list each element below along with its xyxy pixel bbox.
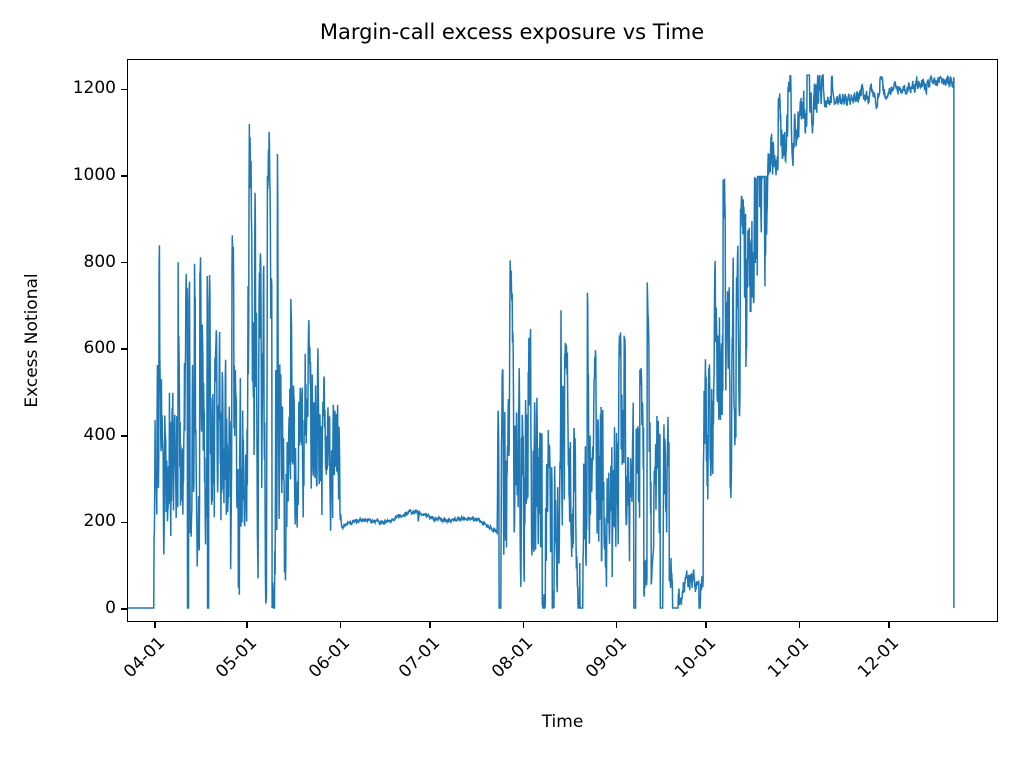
x-tick-mark — [888, 622, 890, 628]
y-tick-label: 200 — [84, 511, 116, 531]
x-tick-mark — [154, 622, 156, 628]
y-tick-label: 600 — [84, 338, 116, 358]
x-tick-mark — [429, 622, 431, 628]
x-tick-label: 07-01 — [386, 633, 444, 691]
y-axis-label: Excess Notional — [22, 59, 42, 622]
x-tick-label: 04-01 — [111, 633, 169, 691]
x-tick-label: 12-01 — [845, 633, 903, 691]
y-tick-label: 0 — [105, 598, 116, 618]
line-series-excess-notional — [128, 75, 954, 608]
x-tick-mark — [799, 622, 801, 628]
x-tick-label: 09-01 — [573, 633, 631, 691]
x-tick-mark — [523, 622, 525, 628]
plot-area — [127, 59, 998, 622]
y-tick-label: 1000 — [73, 165, 116, 185]
line-series-svg — [128, 60, 997, 621]
y-tick-label: 800 — [84, 252, 116, 272]
x-tick-mark — [705, 622, 707, 628]
x-tick-label: 10-01 — [662, 633, 720, 691]
x-tick-label: 05-01 — [203, 633, 261, 691]
x-tick-mark — [246, 622, 248, 628]
y-tick-label: 1200 — [73, 78, 116, 98]
x-tick-label: 08-01 — [479, 633, 537, 691]
x-tick-mark — [616, 622, 618, 628]
x-axis-label: Time — [127, 712, 998, 732]
chart-figure: Margin-call excess exposure vs Time Exce… — [0, 0, 1024, 768]
x-tick-mark — [340, 622, 342, 628]
page-title: Margin-call excess exposure vs Time — [0, 20, 1024, 44]
y-tick-label: 400 — [84, 425, 116, 445]
x-tick-label: 11-01 — [756, 633, 814, 691]
x-tick-label: 06-01 — [297, 633, 355, 691]
